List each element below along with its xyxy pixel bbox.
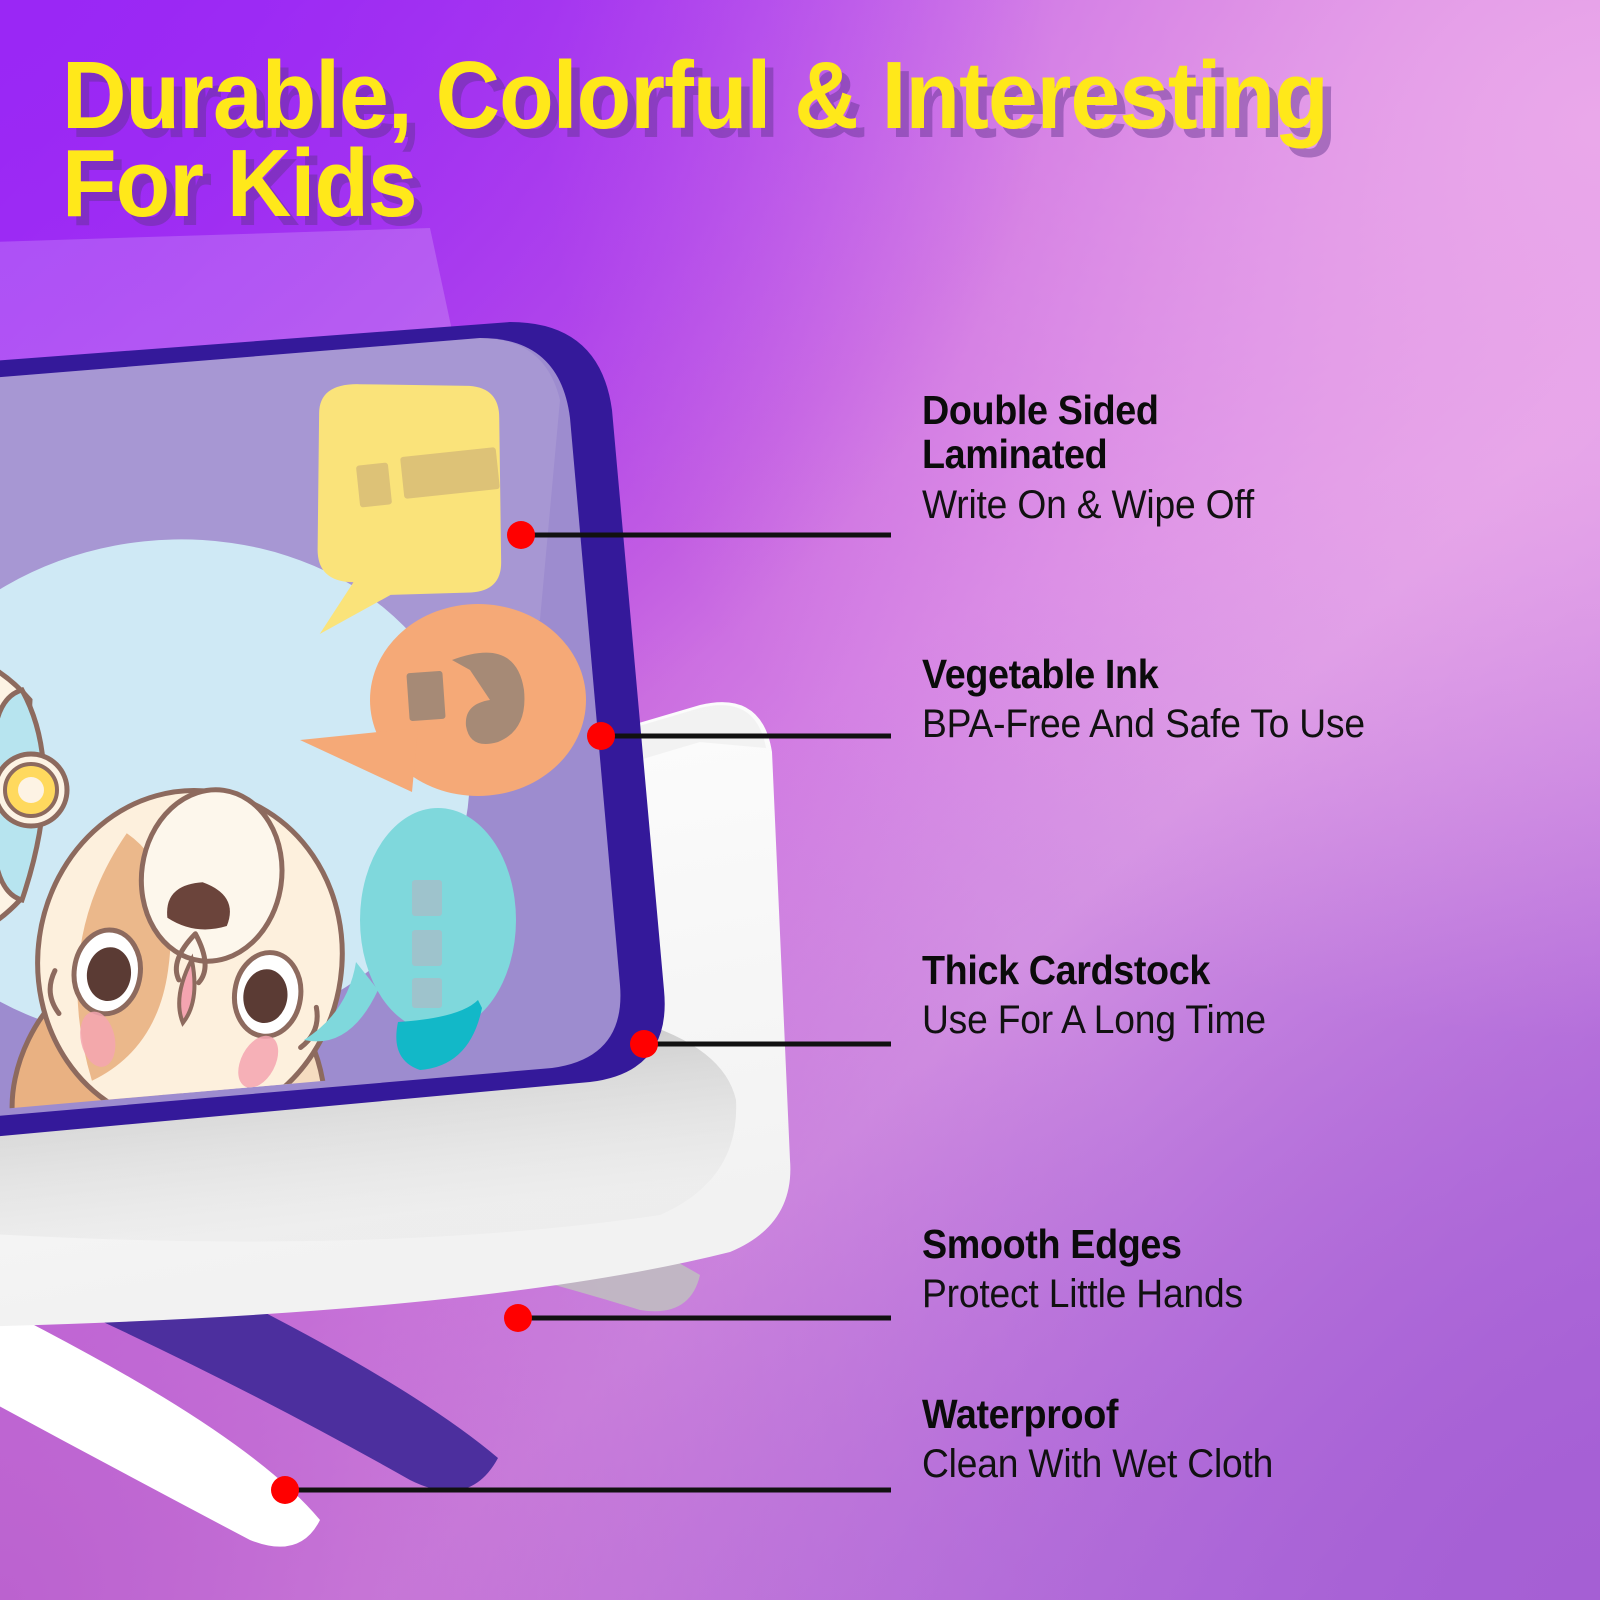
callout-title: Thick Cardstock (922, 948, 1262, 992)
leader-line (644, 1042, 891, 1047)
callout-subtitle: Clean With Wet Cloth (922, 1442, 1273, 1487)
leader-line (601, 734, 891, 739)
callout-title: Vegetable Ink (922, 652, 1360, 696)
feature-callout-list: Double Sided Laminated Write On & Wipe O… (0, 0, 1600, 1600)
leader-line (521, 533, 891, 538)
callout-dot[interactable] (504, 1304, 532, 1332)
callout-dot[interactable] (507, 521, 535, 549)
leader-line (285, 1488, 891, 1493)
leader-line (518, 1316, 891, 1321)
callout-title: Waterproof (922, 1392, 1269, 1436)
callout-subtitle: Protect Little Hands (922, 1272, 1243, 1317)
callout-subtitle: Write On & Wipe Off (922, 483, 1254, 528)
callout-title: Double Sided Laminated (922, 388, 1250, 477)
callout-dot[interactable] (587, 722, 615, 750)
callout-dot[interactable] (630, 1030, 658, 1058)
callout-subtitle: BPA-Free And Safe To Use (922, 702, 1365, 747)
callout-subtitle: Use For A Long Time (922, 998, 1266, 1043)
callout-dot[interactable] (271, 1476, 299, 1504)
callout-title: Smooth Edges (922, 1222, 1239, 1266)
